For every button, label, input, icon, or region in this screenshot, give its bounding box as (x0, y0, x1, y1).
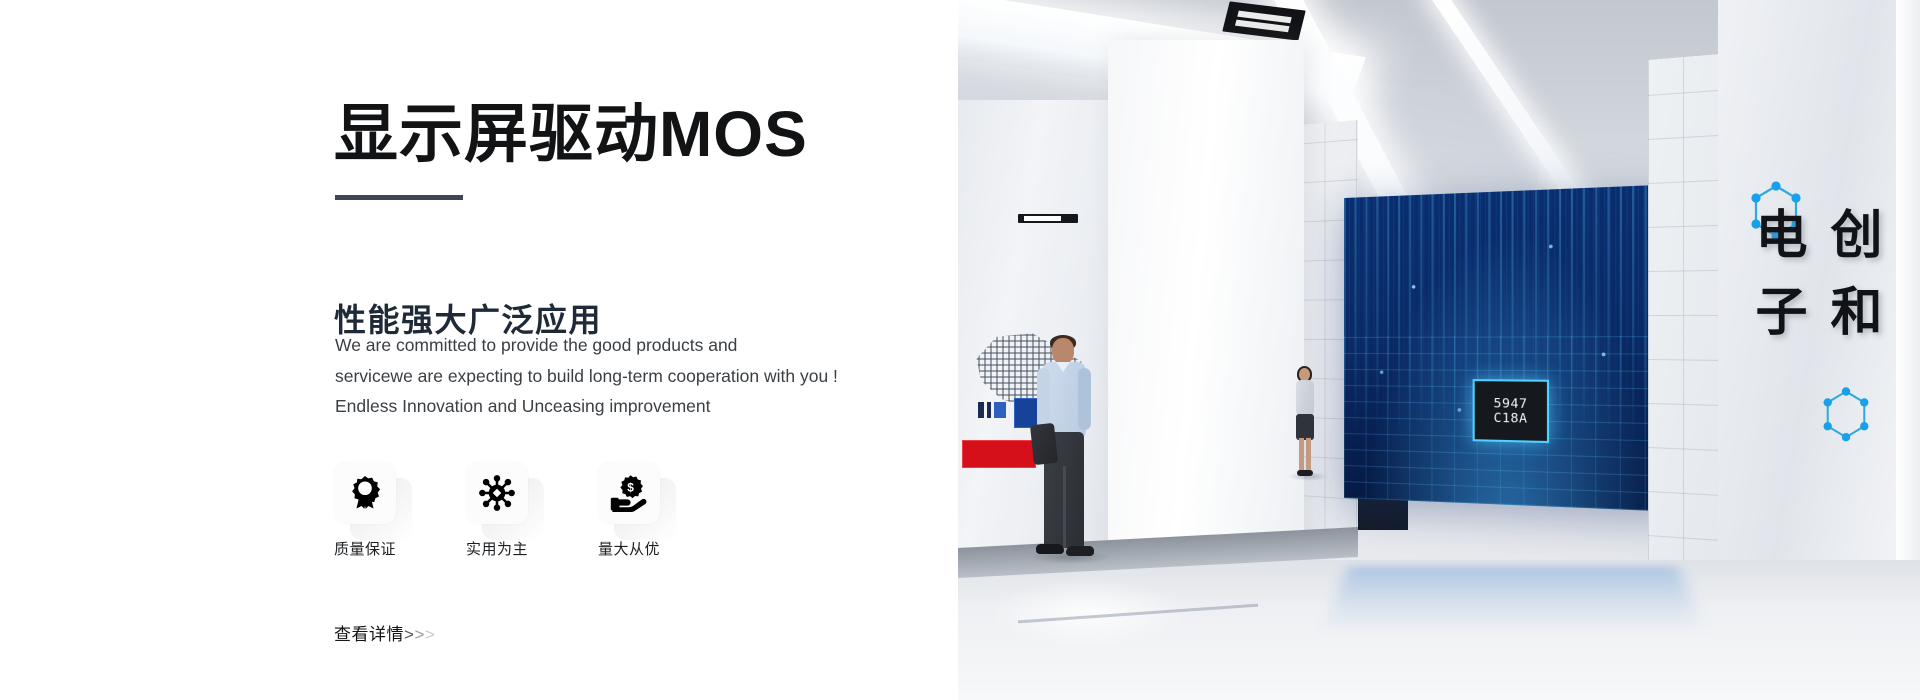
chevron-2-icon: > (414, 625, 424, 645)
person-businessman-standing (1028, 338, 1100, 564)
led-video-wall: 5947 C18A (1344, 184, 1684, 512)
description-line-1: We are committed to provide the good pro… (335, 330, 895, 361)
feature-item-bulk-discount[interactable]: $ 量大从优 (598, 462, 672, 559)
person-shoe-left (1036, 544, 1064, 554)
person-top (1296, 380, 1314, 416)
title-divider (335, 195, 463, 200)
feature-tile (334, 462, 396, 524)
text-panel: 显示屏驱动MOS 性能强大广泛应用 We are committed to pr… (0, 0, 958, 700)
hero-banner: 显示屏驱动MOS 性能强大广泛应用 We are committed to pr… (0, 0, 1920, 700)
showroom-interior-photo: 5947 C18A (958, 0, 1920, 700)
wall-red-plaque (962, 440, 1036, 468)
feature-label: 量大从优 (598, 538, 660, 559)
svg-text:$: $ (627, 480, 634, 494)
feature-item-quality[interactable]: 质量保证 (334, 462, 408, 559)
feature-tile (466, 462, 528, 524)
view-details-label: 查看详情 (334, 620, 404, 645)
wall-logo-mark (978, 402, 1006, 418)
person-head (1052, 338, 1074, 364)
wall-sign-spacer-b (1819, 351, 1894, 428)
chip-network-icon (478, 474, 516, 512)
wall-sign-spacer-a (1744, 351, 1819, 428)
award-ribbon-icon (346, 474, 384, 512)
person-arm-right (1078, 368, 1091, 430)
page-title: 显示屏驱动MOS (334, 101, 808, 168)
person-shoes (1297, 470, 1313, 476)
feature-label: 质量保证 (334, 538, 396, 559)
wall-sign-char-zi: 子 (1744, 275, 1819, 352)
wall-sign-char-chuang: 创 (1819, 198, 1894, 275)
person-woman-walking (1288, 368, 1322, 480)
person-bag (1030, 423, 1058, 465)
hand-money-icon: $ (610, 474, 648, 512)
wall-sign-char-dian: 电 (1744, 198, 1819, 275)
person-shoe-right (1066, 546, 1094, 556)
view-details-link[interactable]: 查看详情>>> (334, 620, 435, 645)
feature-item-practical[interactable]: 实用为主 (466, 462, 540, 559)
person-leg-split (1063, 466, 1066, 548)
wall-sign-company-name: 电 创 子 和 (1744, 198, 1894, 428)
feature-tile: $ (598, 462, 660, 524)
person-arm-left (1037, 368, 1050, 430)
floor-led-reflection (1323, 566, 1704, 633)
feature-list: 质量保证 (334, 462, 672, 559)
wall-sconce-light (1018, 214, 1078, 223)
description-line-2: servicewe are expecting to build long-te… (335, 361, 895, 392)
person-skirt (1296, 414, 1314, 440)
chevron-3-icon: > (425, 625, 435, 645)
description-paragraph: We are committed to provide the good pro… (335, 330, 895, 422)
person-legs (1299, 438, 1311, 472)
led-chip-graphic: 5947 C18A (1473, 379, 1549, 443)
led-chip-label: 5947 C18A (1493, 396, 1527, 426)
description-line-3: Endless Innovation and Unceasing improve… (335, 391, 895, 422)
led-glow-dots (1344, 184, 1684, 512)
feature-label: 实用为主 (466, 538, 528, 559)
chevron-1-icon: > (404, 625, 414, 645)
wall-sign-char-he: 和 (1819, 275, 1894, 352)
led-chip-label-line2: C18A (1493, 410, 1527, 425)
